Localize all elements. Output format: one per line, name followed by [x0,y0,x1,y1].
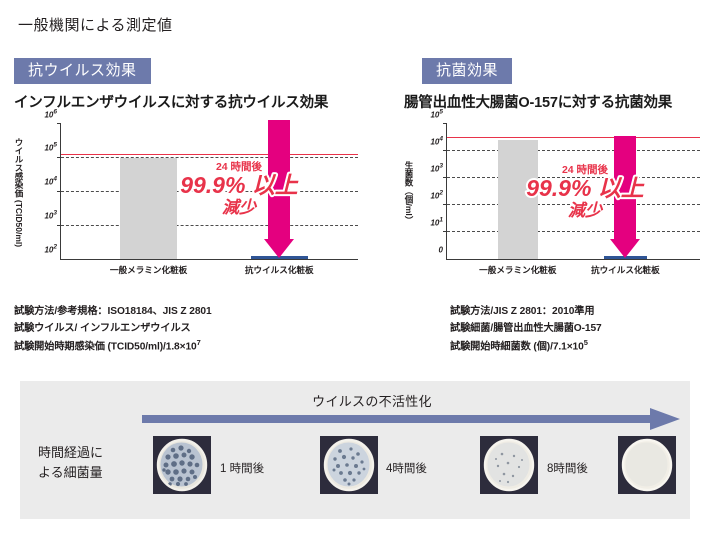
y-tick-1e2: 102 [44,243,61,254]
gridline-1e3 [447,177,700,178]
callout-top-text: 24 時間後 [562,163,609,176]
reference-line [61,154,358,155]
y-tick-1e5: 105 [430,108,447,119]
petri-dish-2 [320,436,378,494]
gridline-1e4 [61,191,358,192]
antiviral-note-2: 試験ウイルス/ インフルエンザウイルス [14,321,362,338]
infographic-page: 一般機関による測定値 抗ウイルス効果 インフルエンザウイルスに対する抗ウイルス効… [0,0,710,550]
antiviral-subtitle: インフルエンザウイルスに対する抗ウイルス効果 [14,91,362,112]
antibacterial-chart: 生菌数（個/ml） 0 101 102 103 104 105 [404,118,704,278]
callout-top-text: 24 時間後 [216,160,263,173]
antibacterial-note-3: 試験開始時細菌数 (個)/7.1×105 [450,337,704,356]
time-label-2: 4時間後 [386,460,427,476]
y-tick-1e4: 104 [44,176,61,187]
reduction-arrow [610,124,640,259]
page-title: 一般機関による測定値 [18,14,173,35]
petri-dish-1 [153,436,211,494]
x-category-melamine: 一般メラミン化粧板 [479,264,556,276]
antibacterial-note-2: 試験細菌/腸管出血性大腸菌O-157 [450,321,704,338]
inactivation-panel: ウイルスの不活性化 時間経過に よる細菌量 [20,381,690,519]
y-tick-1e4: 104 [430,135,447,146]
y-tick-1e1: 101 [430,216,447,227]
y-tick-1e2: 102 [430,189,447,200]
gridline-1e4 [447,150,700,151]
antiviral-note-3: 試験開始時期感染価 (TCID50/ml)/1.8×107 [14,337,362,356]
bar-melamine [498,140,538,259]
x-category-antiviral: 抗ウイルス化粧板 [591,264,660,276]
reduction-arrow [264,124,294,259]
y-tick-1e3: 103 [430,162,447,173]
x-category-antiviral: 抗ウイルス化粧板 [245,264,314,276]
y-tick-1e3: 103 [44,210,61,221]
bar-melamine [120,158,176,259]
y-tick-1e5: 105 [44,142,61,153]
callout-bottom-text: 減少 [222,198,258,217]
antiviral-notes: 試験方法/参考規格：ISO18184、JIS Z 2801 試験ウイルス/ イン… [14,304,362,356]
antibacterial-subtitle: 腸管出血性大腸菌O-157に対する抗菌効果 [404,91,704,112]
time-label-3: 8時間後 [547,460,588,476]
antibacterial-note-1: 試験方法/JIS Z 2801：2010準用 [450,304,704,321]
antiviral-badge: 抗ウイルス効果 [14,58,151,84]
gridline-1e5 [61,157,358,158]
y-tickmark-1e6 [57,123,61,124]
y-tickmark-1e5 [443,123,447,124]
gridline-1e2 [447,204,700,205]
antiviral-plot-area: 102 103 104 105 106 [60,124,358,260]
antibacterial-notes: 試験方法/JIS Z 2801：2010準用 試験細菌/腸管出血性大腸菌O-15… [450,304,704,356]
antiviral-section: 抗ウイルス効果 インフルエンザウイルスに対する抗ウイルス効果 ウイルス感染価 (… [14,58,362,356]
antibacterial-section: 抗菌効果 腸管出血性大腸菌O-157に対する抗菌効果 生菌数（個/ml） 0 1… [404,58,704,356]
antiviral-chart: ウイルス感染価 (TCID50/ml) 102 103 104 105 106 [14,118,362,278]
gridline-1e1 [447,231,700,232]
antiviral-note-1: 試験方法/参考規格：ISO18184、JIS Z 2801 [14,304,362,321]
antibacterial-plot-area: 0 101 102 103 104 105 [446,124,700,260]
x-category-melamine: 一般メラミン化粧板 [110,264,187,276]
y-tick-1e6: 106 [44,108,61,119]
petri-dish-4 [618,436,676,494]
y-tick-0: 0 [439,246,447,255]
petri-dish-3 [480,436,538,494]
antiviral-y-axis-label: ウイルス感染価 (TCID50/ml) [12,118,26,266]
reference-line [447,137,700,138]
timeline-arrow-icon [142,408,680,430]
panel-side-label: 時間経過に よる細菌量 [38,443,138,482]
antibacterial-y-axis-label: 生菌数（個/ml） [402,118,416,266]
gridline-1e3 [61,225,358,226]
antibacterial-badge: 抗菌効果 [422,58,512,84]
time-label-1: 1 時間後 [220,460,264,476]
